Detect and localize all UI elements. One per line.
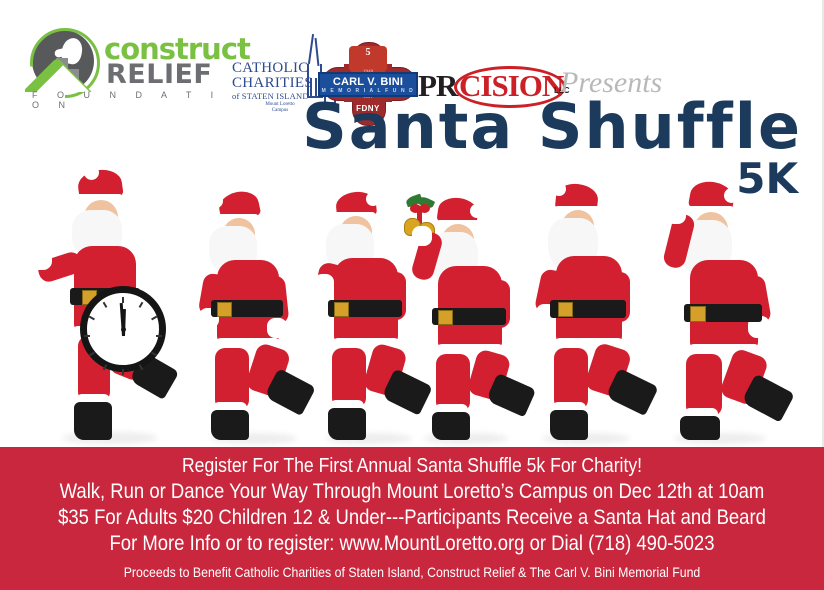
badge-number: 5 <box>349 47 387 58</box>
construct-relief-logo: construct RELIEF F O U N D A T I O N <box>26 28 226 106</box>
banner-line-route: Walk, Run or Dance Your Way Through Moun… <box>49 479 774 505</box>
banner-line-contact: For More Info or to register: www.MountL… <box>49 531 774 557</box>
santa-runner-1 <box>22 168 182 440</box>
relief-wordmark: RELIEF <box>106 59 212 90</box>
santa-runners-artwork <box>0 140 824 440</box>
banner-text-block: Register For The First Annual Santa Shuf… <box>0 454 824 583</box>
wall-clock-prop <box>80 286 166 372</box>
santa-runner-6 <box>640 178 800 440</box>
construct-relief-mark-icon <box>26 28 100 94</box>
banner-line-register: Register For The First Annual Santa Shuf… <box>49 454 774 479</box>
banner-line-proceeds: Proceeds to Benefit Catholic Charities o… <box>49 561 774 583</box>
info-banner: Register For The First Annual Santa Shuf… <box>0 447 824 590</box>
banner-line-pricing: $35 For Adults $20 Children 12 & Under--… <box>49 505 774 531</box>
santa-shuffle-flyer: construct RELIEF F O U N D A T I O N CAT… <box>0 0 824 590</box>
green-roof-icon <box>25 54 101 92</box>
foundation-wordmark: F O U N D A T I O N <box>32 90 226 110</box>
carl-bini-name: CARL V. BINI <box>320 76 416 88</box>
